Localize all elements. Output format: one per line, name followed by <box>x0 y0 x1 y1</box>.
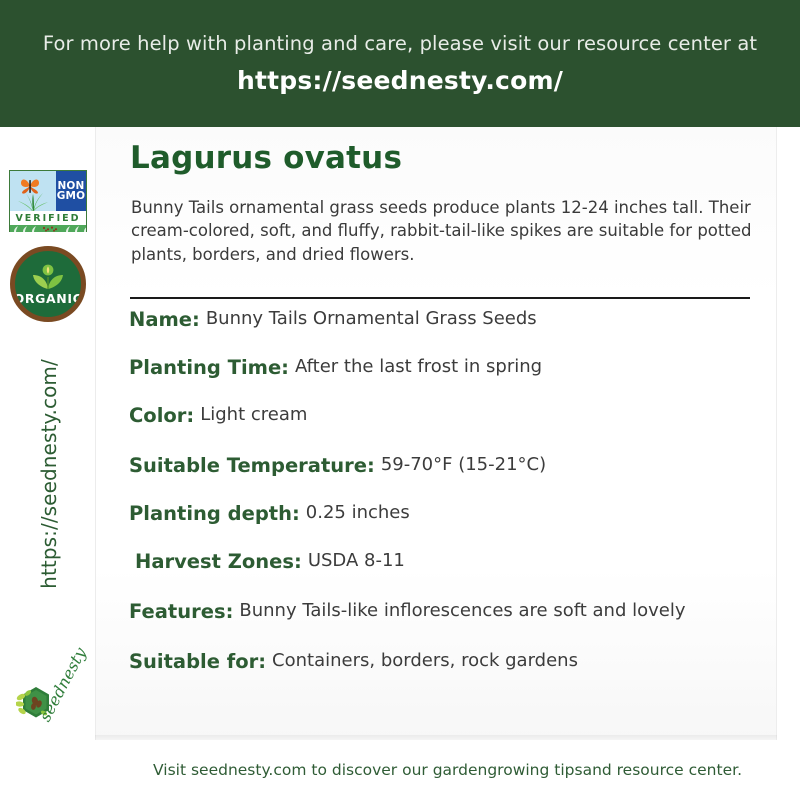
spec-label: Color: <box>129 404 194 427</box>
non-gmo-badge-top: NON GMO <box>10 171 86 211</box>
spec-value: After the last frost in spring <box>295 356 542 377</box>
seed-packet-label: For more help with planting and care, pl… <box>0 0 800 800</box>
sprout-pattern-icon <box>10 225 86 232</box>
spec-label: Name: <box>129 308 200 331</box>
banner-help-text: For more help with planting and care, pl… <box>43 32 757 56</box>
spec-row-name: Name: Bunny Tails Ornamental Grass Seeds <box>129 308 779 356</box>
spec-label: Suitable for: <box>129 650 266 673</box>
gmo-label: GMO <box>57 191 86 202</box>
spec-row-planting-depth: Planting depth: 0.25 inches <box>129 502 779 550</box>
spec-row-suitable-for: Suitable for: Containers, borders, rock … <box>129 650 779 698</box>
left-rail: NON GMO VERIFIED <box>0 127 95 740</box>
spec-label: Planting Time: <box>129 356 289 379</box>
header-banner: For more help with planting and care, pl… <box>0 0 800 127</box>
page-title: Lagurus ovatus <box>130 140 402 176</box>
leaf-emblem-icon <box>31 264 65 290</box>
butterfly-icon <box>19 177 41 195</box>
non-gmo-text-block: NON GMO <box>56 171 86 211</box>
spec-row-features: Features: Bunny Tails-like inflorescence… <box>129 600 779 648</box>
vertical-website-url[interactable]: https://seednesty.com/ <box>37 339 61 609</box>
spec-label: Features: <box>129 600 233 623</box>
spec-row-planting-time: Planting Time: After the last frost in s… <box>129 356 779 404</box>
spec-row-suitable-temperature: Suitable Temperature: 59-70°F (15-21°C) <box>129 454 779 502</box>
section-divider <box>130 297 750 299</box>
spec-list: Name: Bunny Tails Ornamental Grass Seeds… <box>129 308 779 698</box>
organic-label: ORGANIC <box>14 291 83 306</box>
spec-value: USDA 8-11 <box>308 550 405 571</box>
spec-value: 0.25 inches <box>306 502 410 523</box>
product-description: Bunny Tails ornamental grass seeds produ… <box>131 196 761 266</box>
spec-value: Containers, borders, rock gardens <box>272 650 578 671</box>
spec-value: Light cream <box>200 404 307 425</box>
verified-label: VERIFIED <box>10 211 86 225</box>
spec-label: Harvest Zones: <box>135 550 302 573</box>
spec-value: Bunny Tails Ornamental Grass Seeds <box>206 308 537 329</box>
non-gmo-footer-pattern <box>10 225 86 232</box>
footer-text: Visit seednesty.com to discover our gard… <box>153 761 742 779</box>
spec-value: Bunny Tails-like inflorescences are soft… <box>239 600 685 621</box>
organic-badge: ORGANIC <box>10 246 86 322</box>
non-gmo-verified-badge: NON GMO VERIFIED <box>9 170 87 232</box>
spec-row-color: Color: Light cream <box>129 404 779 452</box>
butterfly-grass-icon <box>10 171 56 211</box>
spec-row-harvest-zones: Harvest Zones: USDA 8-11 <box>129 550 779 598</box>
spec-value: 59-70°F (15-21°C) <box>381 454 546 475</box>
banner-website-url[interactable]: https://seednesty.com/ <box>237 66 563 95</box>
brand-logo: seednesty <box>8 672 90 742</box>
footer-bar: Visit seednesty.com to discover our gard… <box>95 740 800 800</box>
spec-label: Planting depth: <box>129 502 300 525</box>
spec-label: Suitable Temperature: <box>129 454 375 477</box>
